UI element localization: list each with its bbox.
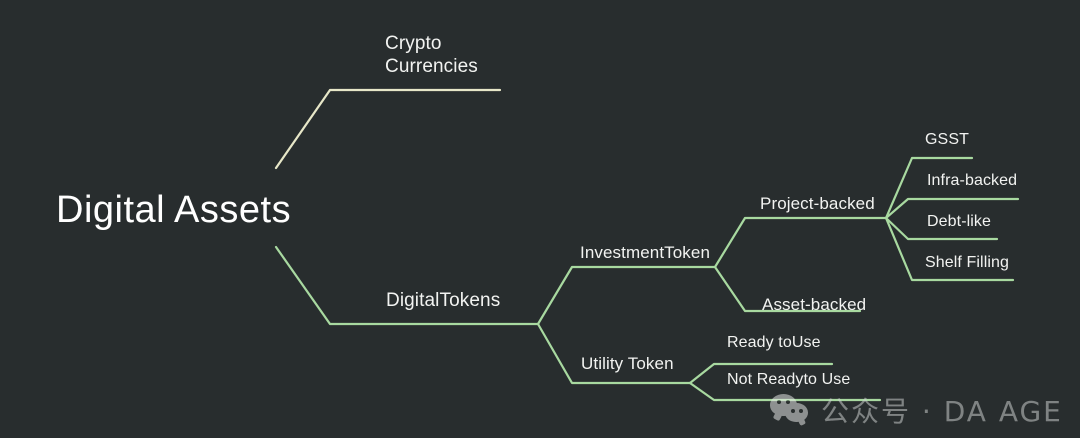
node-digital-tokens[interactable]: DigitalTokens: [386, 290, 500, 312]
branch-crypto-currencies: [276, 90, 500, 168]
node-not-ready-to-use[interactable]: Not Readyto Use: [727, 371, 850, 390]
node-project-backed[interactable]: Project-backed: [760, 194, 875, 214]
node-debt-like[interactable]: Debt-like: [927, 213, 991, 232]
node-gsst[interactable]: GSST: [925, 131, 969, 150]
branch-digital-tokens: [276, 247, 538, 324]
node-investment-token[interactable]: InvestmentToken: [580, 243, 710, 263]
node-shelf-filling[interactable]: Shelf Filling: [925, 254, 1009, 273]
node-crypto-currencies[interactable]: Crypto Currencies: [385, 32, 478, 78]
node-crypto-currencies-line1: Crypto: [385, 32, 478, 55]
node-utility-token[interactable]: Utility Token: [581, 354, 674, 374]
mindmap-canvas: Digital Assets Crypto Currencies Digital…: [0, 0, 1080, 438]
node-infra-backed[interactable]: Infra-backed: [927, 172, 1017, 191]
node-crypto-currencies-line2: Currencies: [385, 55, 478, 78]
node-asset-backed[interactable]: Asset-backed: [762, 295, 866, 315]
node-ready-to-use[interactable]: Ready toUse: [727, 334, 821, 353]
root-node-digital-assets[interactable]: Digital Assets: [56, 188, 291, 233]
